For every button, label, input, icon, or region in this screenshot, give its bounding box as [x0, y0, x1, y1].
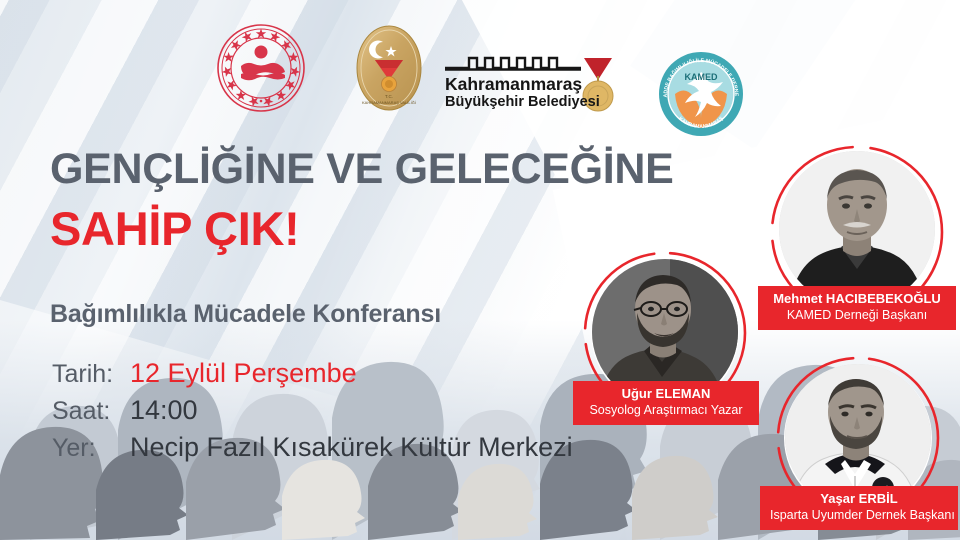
detail-row-date: Tarih: 12 Eylül Perşembe [52, 358, 573, 389]
event-details: Tarih: 12 Eylül Perşembe Saat: 14:00 Yer… [52, 358, 573, 469]
time-label: Saat: [52, 397, 130, 426]
ministry-seal-logo [215, 22, 307, 114]
municipality-line1: Kahramanmaraş [445, 74, 582, 94]
speaker-name-2: Uğur ELEMAN [583, 387, 749, 402]
kamed-logo: KAMED MADDE BAĞIMLILIĞI İLE MÜCADELE DER… [657, 50, 745, 138]
municipality-line2: Büyükşehir Belediyesi [445, 94, 600, 110]
speaker-card-yasar-erbil: Yaşar ERBİL Isparta Uyumder Dernek Başka… [768, 358, 958, 540]
speaker-card-mehmet-hacibebekoglu: Mehmet HACIBEBEKOĞLU KAMED Derneği Başka… [762, 148, 952, 338]
place-value: Necip Fazıl Kısakürek Kültür Merkezi [130, 432, 573, 463]
detail-row-time: Saat: 14:00 [52, 395, 573, 426]
svg-text:T.C.: T.C. [385, 94, 393, 99]
speaker-plate-1: Mehmet HACIBEBEKOĞLU KAMED Derneği Başka… [758, 286, 956, 330]
speaker-name-1: Mehmet HACIBEBEKOĞLU [768, 292, 946, 307]
speaker-plate-2: Uğur ELEMAN Sosyolog Araştırmacı Yazar [573, 381, 759, 425]
place-label: Yer: [52, 434, 130, 463]
speaker-name-3: Yaşar ERBİL [770, 492, 948, 507]
governorship-logo: T.C. KAHRAMANMARAŞ VALİLİĞİ [347, 22, 431, 114]
time-value: 14:00 [130, 395, 198, 426]
subtitle: Bağımlılıkla Mücadele Konferansı [50, 300, 441, 329]
portrait-1 [779, 151, 935, 307]
speaker-role-2: Sosyolog Araştırmacı Yazar [583, 403, 749, 418]
municipality-logo: Kahramanmaraş Büyükşehir Belediyesi [443, 46, 633, 116]
kamed-center-text: KAMED [685, 72, 718, 82]
headline-line-1: GENÇLİĞİNE VE GELECEĞİNE [50, 148, 770, 191]
speaker-card-ugur-eleman: Uğur ELEMAN Sosyolog Araştırmacı Yazar [575, 253, 765, 443]
date-value: 12 Eylül Perşembe [130, 358, 357, 389]
headline-block: GENÇLİĞİNE VE GELECEĞİNE SAHİP ÇIK! [50, 148, 770, 252]
headline-line-2: SAHİP ÇIK! [50, 205, 770, 252]
logo-row: T.C. KAHRAMANMARAŞ VALİLİĞİ Kahramanmara… [0, 22, 960, 122]
detail-row-place: Yer: Necip Fazıl Kısakürek Kültür Merkez… [52, 432, 573, 463]
svg-text:KAHRAMANMARAŞ VALİLİĞİ: KAHRAMANMARAŞ VALİLİĞİ [362, 100, 416, 105]
date-label: Tarih: [52, 360, 130, 389]
speaker-photo-1 [779, 151, 935, 307]
speaker-role-3: Isparta Uyumder Dernek Başkanı [770, 508, 948, 523]
speaker-plate-3: Yaşar ERBİL Isparta Uyumder Dernek Başka… [760, 486, 958, 530]
speaker-role-1: KAMED Derneği Başkanı [768, 308, 946, 323]
event-poster: T.C. KAHRAMANMARAŞ VALİLİĞİ Kahramanmara… [0, 0, 960, 540]
